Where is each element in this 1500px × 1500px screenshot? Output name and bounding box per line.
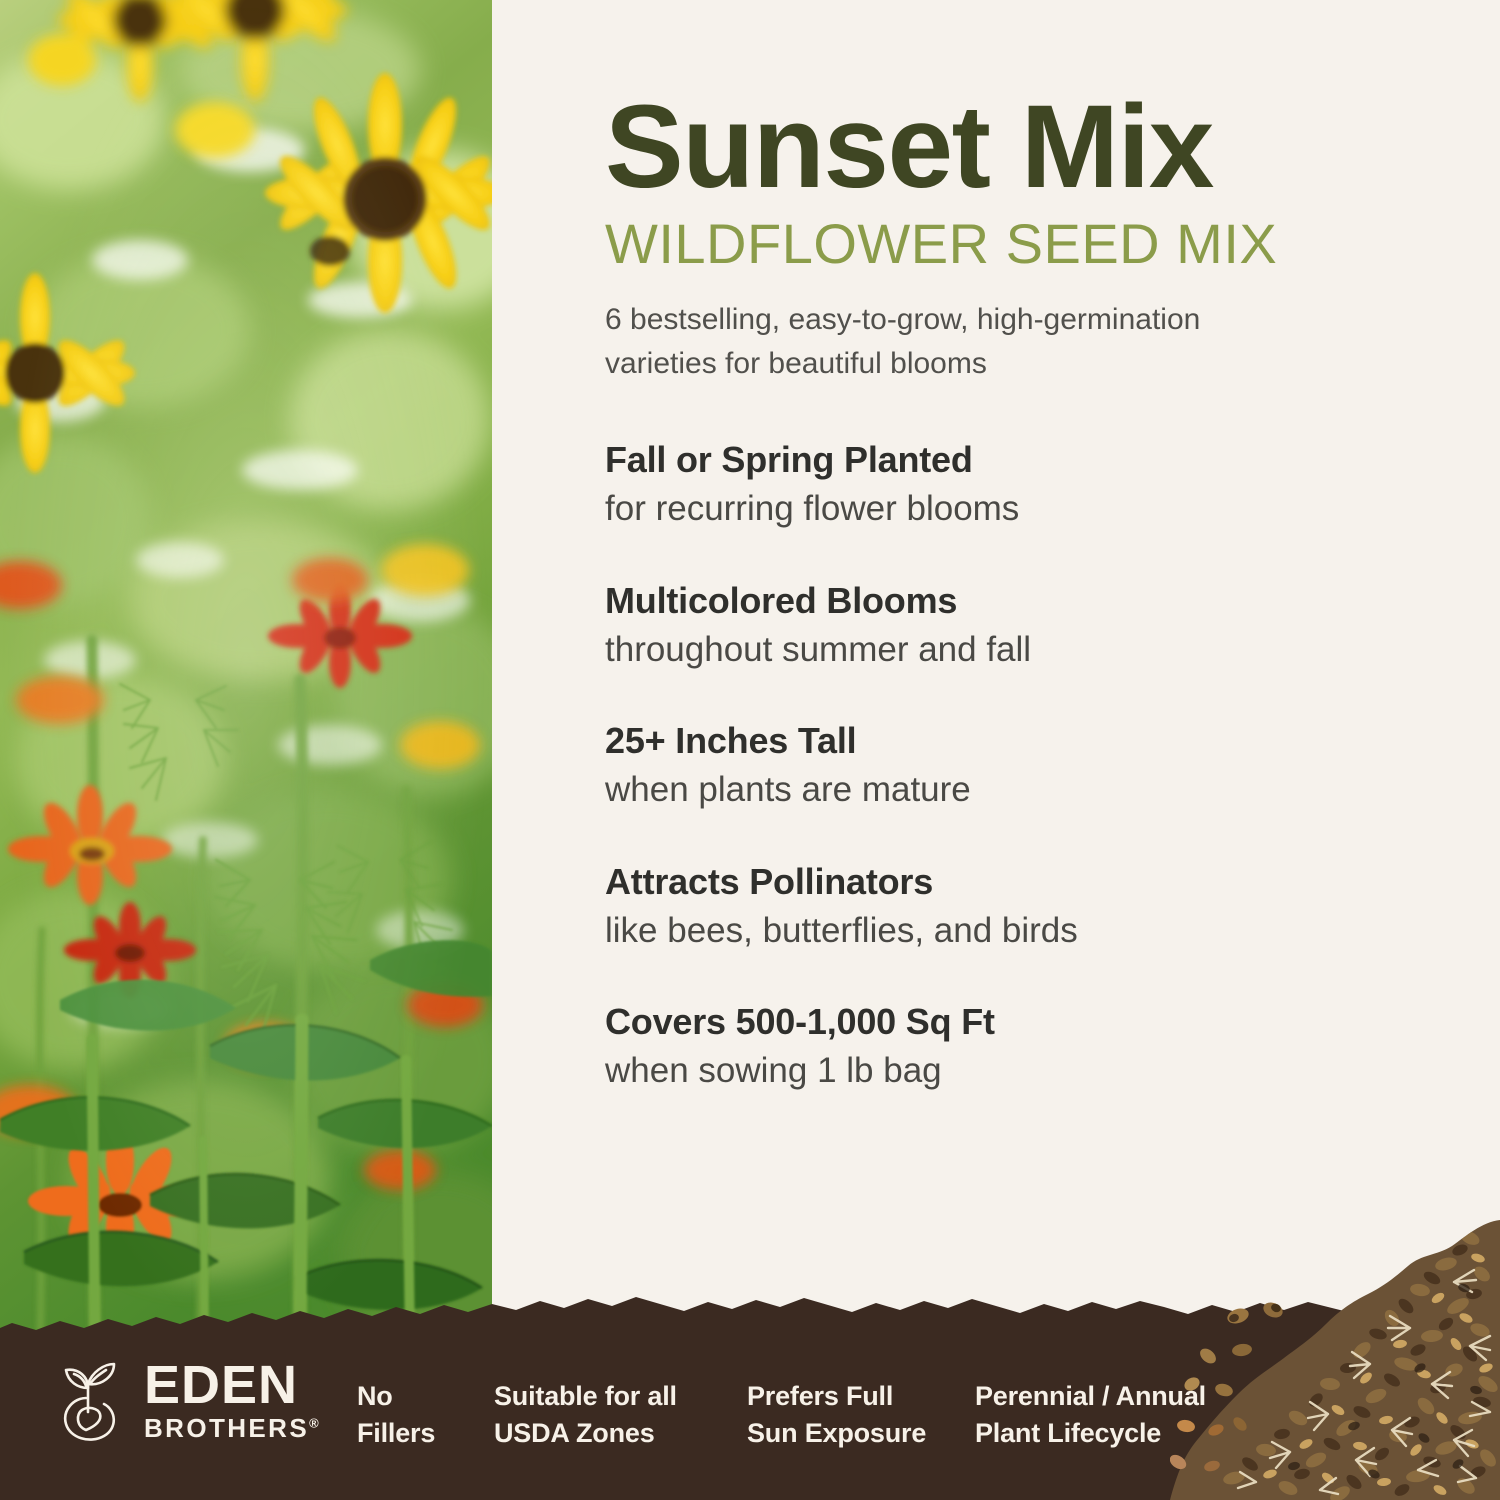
footer-item-line-1: Prefers Full — [747, 1378, 926, 1415]
wildflower-photo — [0, 0, 492, 1340]
footer-item-line-2: Plant Lifecycle — [975, 1415, 1206, 1452]
feature-title: Covers 500-1,000 Sq Ft — [605, 999, 1465, 1044]
footer-item-plant-lifecycle: Perennial / Annual Plant Lifecycle — [975, 1378, 1206, 1453]
title-block: Sunset Mix WILDFLOWER SEED MIX 6 bestsel… — [605, 88, 1465, 385]
brand-wordmark: EDEN BROTHERS® — [144, 1360, 319, 1442]
content-panel: Sunset Mix WILDFLOWER SEED MIX 6 bestsel… — [492, 0, 1500, 1340]
feature-description: throughout summer and fall — [605, 627, 1465, 673]
torn-edge-shape — [0, 1288, 1500, 1348]
feature-description: for recurring flower blooms — [605, 486, 1465, 532]
feature-description: like bees, butterflies, and birds — [605, 908, 1465, 954]
footer-item-no-fillers: No Fillers — [357, 1378, 435, 1453]
footer-item-usda-zones: Suitable for all USDA Zones — [494, 1378, 677, 1453]
footer-item-line-1: Perennial / Annual — [975, 1378, 1206, 1415]
intro-line-2: varieties for beautiful blooms — [605, 347, 987, 380]
feature-description: when sowing 1 lb bag — [605, 1048, 1465, 1094]
feature-list: Fall or Spring Planted for recurring flo… — [605, 437, 1465, 1094]
torn-edge — [0, 1288, 1500, 1348]
brand-name-bottom: BROTHERS® — [144, 1414, 319, 1443]
feature-description: when plants are mature — [605, 767, 1465, 813]
feature-title: Attracts Pollinators — [605, 859, 1465, 904]
feature-title: Fall or Spring Planted — [605, 437, 1465, 482]
intro-line-1: 6 bestselling, easy-to-grow, high-germin… — [605, 303, 1200, 336]
feature-title: 25+ Inches Tall — [605, 718, 1465, 763]
feature-title: Multicolored Blooms — [605, 578, 1465, 623]
footer-item-sun-exposure: Prefers Full Sun Exposure — [747, 1378, 926, 1453]
intro-paragraph: 6 bestselling, easy-to-grow, high-germin… — [605, 298, 1375, 385]
sprout-seedling-glyph — [52, 1358, 128, 1444]
feature-item: Attracts Pollinators like bees, butterfl… — [605, 859, 1465, 954]
feature-item: Covers 500-1,000 Sq Ft when sowing 1 lb … — [605, 999, 1465, 1094]
photo-canvas — [0, 0, 492, 1340]
feature-item: Multicolored Blooms throughout summer an… — [605, 578, 1465, 673]
trademark-symbol: ® — [309, 1415, 319, 1430]
footer-item-line-1: No — [357, 1378, 435, 1415]
footer-item-line-2: Sun Exposure — [747, 1415, 926, 1452]
page-title: Sunset Mix — [605, 88, 1465, 206]
wildflower-photo-illustration — [0, 0, 492, 1340]
sprout-seedling-icon — [52, 1358, 128, 1444]
page-subtitle: WILDFLOWER SEED MIX — [605, 216, 1465, 272]
feature-item: 25+ Inches Tall when plants are mature — [605, 718, 1465, 813]
footer-content: EDEN BROTHERS® No Fillers Suitable for a… — [0, 1340, 1500, 1500]
feature-item: Fall or Spring Planted for recurring flo… — [605, 437, 1465, 532]
footer-item-line-2: Fillers — [357, 1415, 435, 1452]
footer-item-line-2: USDA Zones — [494, 1415, 677, 1452]
footer-background: EDEN BROTHERS® No Fillers Suitable for a… — [0, 1340, 1500, 1500]
brand-name-top: EDEN — [144, 1360, 319, 1412]
product-infographic: Sunset Mix WILDFLOWER SEED MIX 6 bestsel… — [0, 0, 1500, 1500]
footer-bar: EDEN BROTHERS® No Fillers Suitable for a… — [0, 1288, 1500, 1500]
footer-item-line-1: Suitable for all — [494, 1378, 677, 1415]
brand-logo[interactable]: EDEN BROTHERS® — [52, 1358, 319, 1444]
